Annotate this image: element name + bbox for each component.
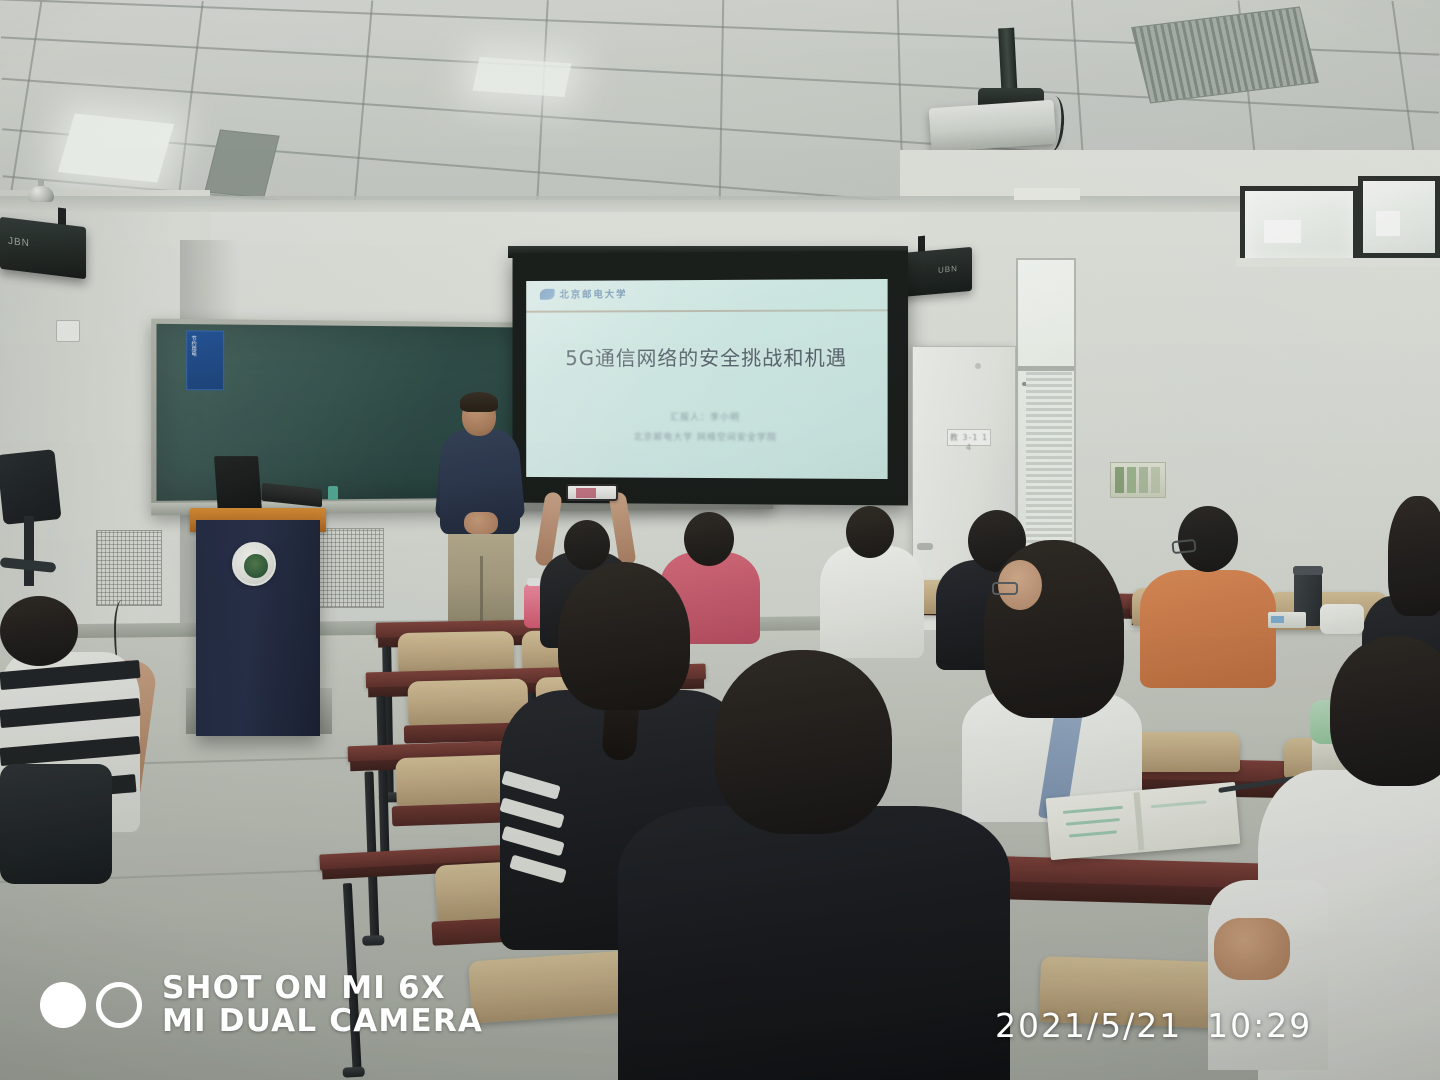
slide-subtitle-presenter: 汇报人：李小明 — [526, 410, 887, 424]
wall-speaker-right: UBN — [900, 247, 972, 297]
logo-mark-icon — [540, 288, 555, 299]
student-hand — [1214, 918, 1290, 980]
door-handle[interactable] — [917, 543, 933, 550]
university-logo: 北京邮电大学 — [540, 286, 628, 300]
blackboard-notice-sign: 节约用电 — [186, 330, 224, 390]
student-hair-long — [1388, 496, 1440, 616]
student-head — [684, 512, 734, 566]
ring-circle-icon — [96, 982, 142, 1028]
security-camera-icon — [28, 186, 54, 202]
projection-screen: 北京邮电大学 5G通信网络的安全挑战和机遇 汇报人：李小明 北京邮电大学 网络空… — [513, 251, 909, 506]
shirt-stripe — [509, 855, 567, 884]
clerestory-window-left — [1240, 186, 1358, 264]
seat-back[interactable] — [468, 950, 632, 1023]
slide-subtitle-affiliation: 北京邮电大学 网络空间安全学院 — [526, 429, 887, 443]
student-head — [1330, 636, 1440, 786]
speaker-brand-label: JBN — [8, 236, 30, 250]
notice-sign-text: 节约用电 — [190, 336, 196, 386]
student-torso — [1140, 570, 1276, 688]
office-chair-back[interactable] — [0, 449, 61, 525]
light-switch[interactable] — [56, 320, 80, 342]
student-head — [714, 650, 892, 834]
thermos-lid — [1293, 566, 1323, 575]
room-number-text: 教 3-1 1 4 — [948, 432, 990, 452]
ceiling-projector — [929, 100, 1057, 153]
smartphone[interactable] — [566, 484, 618, 501]
student-head — [846, 506, 894, 558]
bottle-cap — [527, 578, 541, 586]
filled-circle-icon — [40, 982, 86, 1028]
ceiling-light-panel — [473, 57, 572, 97]
highlighted-line — [1066, 818, 1120, 826]
watermark-line-2: MI DUAL CAMERA — [162, 1005, 483, 1038]
window-sill — [1236, 258, 1440, 267]
presenter-leg-seam — [480, 556, 483, 630]
shirt-stripe — [499, 797, 564, 828]
podium-speaker-left — [96, 530, 162, 606]
shirt-stripe — [501, 826, 564, 857]
ceiling-light-panel — [58, 113, 174, 182]
room-number-plate: 教 3-1 1 4 — [947, 429, 991, 446]
watermark-text: SHOT ON MI 6X MI DUAL CAMERA — [162, 972, 483, 1038]
presenter-hands — [464, 512, 498, 534]
student-head — [564, 520, 610, 570]
highlighted-line — [1063, 806, 1123, 814]
student-torso — [820, 546, 924, 658]
watermark-line-1: SHOT ON MI 6X — [162, 972, 483, 1005]
podium-speaker-right — [318, 528, 384, 608]
office-chair-post — [24, 516, 34, 586]
student-hair — [558, 562, 690, 710]
pencil-case — [1268, 612, 1306, 628]
wall-speaker-left: JBN — [0, 217, 86, 280]
eyeglasses-icon — [992, 582, 1018, 595]
notebook-spine — [1133, 792, 1144, 850]
backpack — [0, 764, 112, 884]
camera-watermark: SHOT ON MI 6X MI DUAL CAMERA — [40, 972, 483, 1038]
presentation-slide: 北京邮电大学 5G通信网络的安全挑战和机遇 汇报人：李小明 北京邮电大学 网络空… — [526, 279, 887, 479]
desk-foot — [342, 1067, 364, 1078]
window-ledge — [1014, 188, 1080, 200]
university-emblem — [232, 542, 276, 586]
desk-foot — [362, 935, 384, 946]
presenter-hair — [460, 392, 498, 412]
shirt-stripe — [0, 660, 141, 690]
podium-monitor[interactable] — [214, 456, 262, 512]
shirt-stripe — [501, 770, 561, 799]
dual-camera-icon — [40, 982, 142, 1028]
photo-timestamp: 2021/5/21 10:29 — [995, 1006, 1312, 1045]
slide-header: 北京邮电大学 — [526, 279, 887, 311]
university-name: 北京邮电大学 — [560, 286, 628, 300]
slide-title: 5G通信网络的安全挑战和机遇 — [526, 342, 887, 371]
tissue-pack — [1320, 604, 1364, 634]
shirt-stripe — [0, 736, 141, 766]
highlighted-line — [1069, 830, 1117, 837]
shirt-stripe — [0, 698, 141, 728]
speaker-brand-label: UBN — [938, 264, 958, 275]
student-torso — [618, 806, 1010, 1080]
door-screw-icon — [975, 363, 981, 369]
eyeglasses-icon — [1171, 539, 1196, 554]
seat-back[interactable] — [398, 631, 515, 673]
photo-canvas: JBN UBN 节约用电 北京邮电大学 5G通信网络的安全挑战和机遇 — [0, 0, 1440, 1080]
podium-marker-cup — [328, 486, 338, 500]
window-mullion — [1018, 366, 1074, 371]
wall-notice-sign — [1110, 462, 1166, 498]
student-head — [0, 596, 78, 666]
highlighted-line — [1151, 800, 1207, 808]
wall-ceiling-joint — [0, 196, 1440, 212]
slide-divider-rule — [526, 309, 887, 312]
clerestory-window-right — [1358, 176, 1440, 258]
